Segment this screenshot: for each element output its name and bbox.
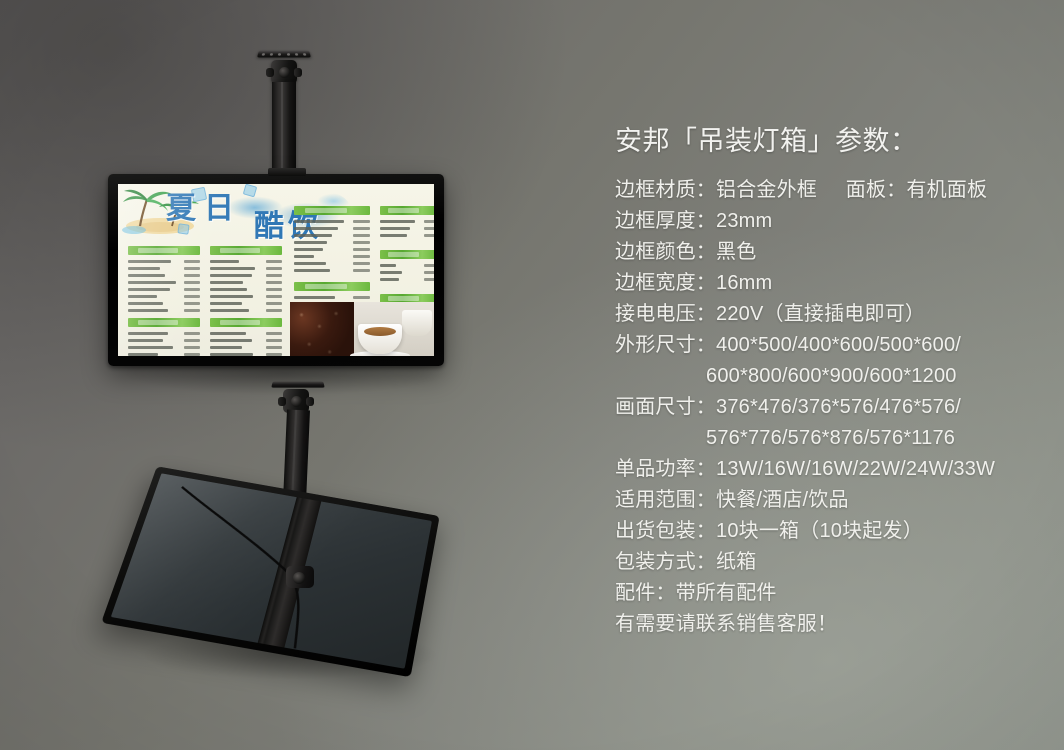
spec-title: 安邦「吊装灯箱」参数： (615, 124, 1055, 158)
spec-line: 画面尺寸：376*476/376*576/476*576/ (615, 392, 1055, 423)
spec-line: 有需要请联系销售客服！ (615, 609, 1055, 640)
spec-line-list: 边框材质：铝合金外框 面板：有机面板边框厚度：23mm边框颜色：黑色边框宽度：1… (615, 175, 1055, 640)
section-header (294, 282, 370, 291)
spec-line: 600*800/600*900/600*1200 (615, 361, 1055, 392)
spec-line: 576*776/576*876/576*1176 (615, 423, 1055, 454)
upper-pivot-bolt (279, 67, 290, 78)
menu-section (128, 246, 200, 314)
headline-char: 夏 (166, 194, 196, 224)
upper-mounting-pole (272, 82, 296, 174)
menu-section (380, 206, 434, 239)
spec-line: 边框宽度：16mm (615, 268, 1055, 299)
section-header (294, 206, 370, 215)
menu-section (210, 318, 282, 356)
menu-section (128, 318, 200, 356)
lower-tilt-bolt (293, 572, 305, 584)
coffee-photo (290, 302, 434, 356)
section-header (380, 206, 434, 215)
lower-pivot-bolt (291, 396, 302, 407)
hanging-light-box: 夏 日 酷 饮 (108, 174, 444, 366)
spec-line: 边框颜色：黑色 (615, 237, 1055, 268)
menu-section (210, 246, 282, 314)
spec-line: 外形尺寸：400*500/400*600/500*600/ (615, 330, 1055, 361)
menu-section (294, 206, 370, 274)
spec-line: 配件：带所有配件 (615, 578, 1055, 609)
coffee-beans (290, 302, 354, 356)
lightbox-top-bracket (268, 168, 306, 176)
menu-artwork: 夏 日 酷 饮 (118, 184, 434, 356)
background-coffee-cup (402, 310, 432, 336)
headline-char: 日 (204, 194, 234, 224)
section-header (210, 246, 282, 255)
mount-plate-holes (261, 52, 306, 57)
menu-section (380, 250, 434, 283)
spec-line: 单品功率：13W/16W/16W/22W/24W/33W (615, 454, 1055, 485)
spec-line: 包装方式：纸箱 (615, 547, 1055, 578)
spec-line: 出货包装：10块一箱（10块起发） (615, 516, 1055, 547)
section-header (380, 250, 434, 259)
spec-line: 适用范围：快餐/酒店/饮品 (615, 485, 1055, 516)
section-header (128, 318, 200, 327)
spec-line: 边框厚度：23mm (615, 206, 1055, 237)
section-header (210, 318, 282, 327)
spec-line: 接电电压：220V（直接插电即可） (615, 299, 1055, 330)
headline-char: 酷 (254, 212, 284, 242)
product-photo: 夏 日 酷 饮 (0, 0, 1064, 750)
spec-line: 边框材质：铝合金外框 面板：有机面板 (615, 175, 1055, 206)
lower-mount-plate (271, 382, 325, 388)
menu-panel: 夏 日 酷 饮 (118, 184, 434, 356)
section-header (128, 246, 200, 255)
ceiling-mount-plate (257, 51, 311, 58)
spec-text-block: 安邦「吊装灯箱」参数： 边框材质：铝合金外框 面板：有机面板边框厚度：23mm边… (615, 124, 1055, 640)
